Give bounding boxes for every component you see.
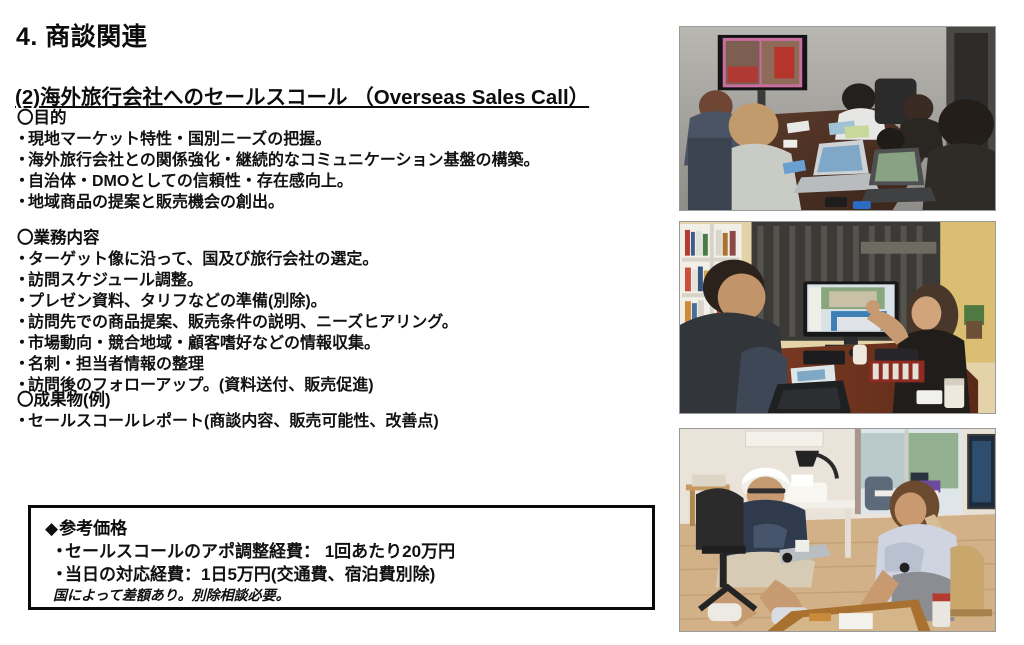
list-item: 自治体・DMOとしての信頼性・存在感向上。 <box>17 171 540 192</box>
reference-price-heading: ◆参考価格 <box>45 517 652 540</box>
list-item: 地域商品の提案と販売機会の創出。 <box>17 192 540 213</box>
section-purpose: 〇目的 現地マーケット特性・国別ニーズの把握。 海外旅行会社との関係強化・継続的… <box>17 108 540 213</box>
photo-column <box>679 0 996 645</box>
diamond-icon: ◆ <box>45 519 58 538</box>
reference-price-box: ◆参考価格 セールスコールのアポ調整経費： 1回あたり20万円 当日の対応経費：… <box>28 505 655 610</box>
list-item: 現地マーケット特性・国別ニーズの把握。 <box>17 129 540 150</box>
section-outputs: 〇成果物(例) セールスコールレポート(商談内容、販売可能性、改善点) <box>17 390 439 432</box>
list-item: プレゼン資料、タリフなどの準備(別除)。 <box>17 291 458 312</box>
list-item: セールスコールのアポ調整経費： 1回あたり20万円 <box>53 540 652 563</box>
photo-office-consultation <box>679 428 996 632</box>
section-duties: 〇業務内容 ターゲット像に沿って、国及び旅行会社の選定。 訪問スケジュール調整。… <box>17 228 458 396</box>
photo-office-consultation-image <box>680 429 995 631</box>
list-item: 市場動向・競合地域・顧客嗜好などの情報収集。 <box>17 333 458 354</box>
content-column: 4. 商談関連 (2)海外旅行会社へのセールスコール （Overseas Sal… <box>0 0 670 645</box>
slide-canvas: 4. 商談関連 (2)海外旅行会社へのセールスコール （Overseas Sal… <box>0 0 1024 645</box>
reference-price-note: 国によって差額あり。別除相談必要。 <box>45 586 652 605</box>
reference-price-heading-label: 参考価格 <box>59 519 127 538</box>
list-item: 訪問スケジュール調整。 <box>17 270 458 291</box>
page-title: 4. 商談関連 <box>16 17 147 53</box>
bullet-list-purpose: 現地マーケット特性・国別ニーズの把握。 海外旅行会社との関係強化・継続的なコミュ… <box>17 129 540 213</box>
section-heading-outputs: 〇成果物(例) <box>17 390 439 411</box>
list-item: 訪問先での商品提案、販売条件の説明、ニーズヒアリング。 <box>17 312 458 333</box>
reference-price-list: セールスコールのアポ調整経費： 1回あたり20万円 当日の対応経費：1日5万円(… <box>45 540 652 586</box>
photo-meeting-room-image <box>680 27 995 210</box>
bullet-list-outputs: セールスコールレポート(商談内容、販売可能性、改善点) <box>17 411 439 432</box>
photo-monitor-discussion <box>679 221 996 414</box>
list-item: セールスコールレポート(商談内容、販売可能性、改善点) <box>17 411 439 432</box>
section-heading-duties: 〇業務内容 <box>17 228 458 249</box>
photo-meeting-room <box>679 26 996 211</box>
section-subtitle: (2)海外旅行会社へのセールスコール （Overseas Sales Call） <box>15 80 589 110</box>
section-heading-purpose: 〇目的 <box>17 108 540 129</box>
list-item: 海外旅行会社との関係強化・継続的なコミュニケーション基盤の構築。 <box>17 150 540 171</box>
bullet-list-duties: ターゲット像に沿って、国及び旅行会社の選定。 訪問スケジュール調整。 プレゼン資… <box>17 249 458 396</box>
reference-price-inner: ◆参考価格 セールスコールのアポ調整経費： 1回あたり20万円 当日の対応経費：… <box>31 508 652 605</box>
list-item: ターゲット像に沿って、国及び旅行会社の選定。 <box>17 249 458 270</box>
list-item: 名刺・担当者情報の整理 <box>17 354 458 375</box>
photo-monitor-discussion-image <box>680 222 995 413</box>
list-item: 当日の対応経費：1日5万円(交通費、宿泊費別除) <box>53 563 652 586</box>
